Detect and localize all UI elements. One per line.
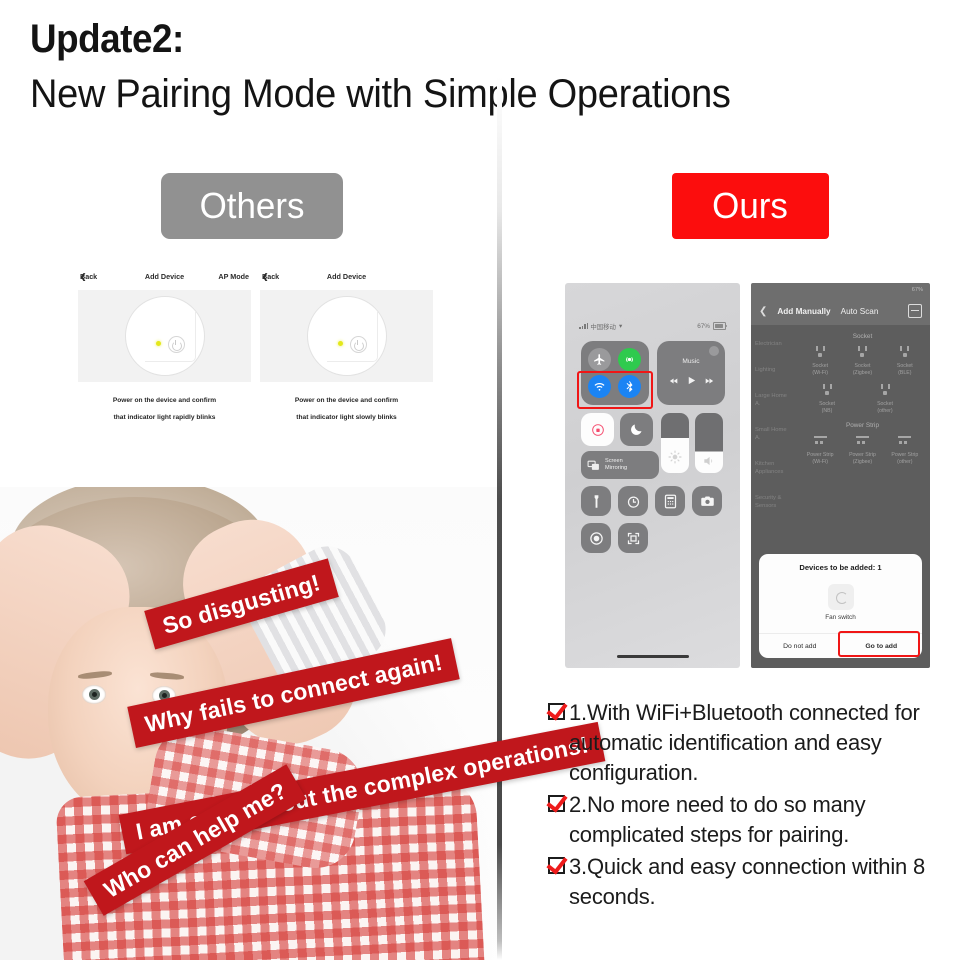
app-status-bar: 67% [751, 287, 930, 296]
panel-1-caption: Power on the device and confirm that ind… [78, 392, 251, 426]
benefit-text: 3.Quick and easy connection within 8 sec… [569, 852, 960, 912]
panel-2-header: ❮Back Add Device [260, 272, 433, 288]
smart-app-add-device-screen: 67% ❮ Add Manually Auto Scan Electrician… [751, 283, 930, 668]
checkbox-checked-icon [548, 857, 565, 874]
timer-icon[interactable] [618, 486, 648, 516]
panel-2-caption: Power on the device and confirm that ind… [260, 392, 433, 426]
rotation-lock-icon[interactable] [581, 413, 614, 446]
promo-page: Update2: New Pairing Mode with Simple Op… [0, 0, 960, 960]
ap-mode-button[interactable]: AP Mode [218, 272, 249, 281]
home-indicator [617, 655, 689, 658]
devices-found-dialog: Devices to be added: 1 Fan switch Do not… [759, 554, 922, 658]
socket-circle-icon [307, 296, 387, 376]
page-title: Update2: New Pairing Mode with Simple Op… [30, 16, 950, 120]
device-thumbnail-icon [828, 584, 854, 610]
caption-line-1: Power on the device and confirm [78, 392, 251, 409]
ios-control-center: 中国移动 ▾ 67% [565, 283, 740, 668]
badge-others: Others [161, 173, 343, 239]
caption-line-2: that indicator light rapidly blinks [78, 409, 251, 426]
airplane-mode-icon[interactable] [588, 348, 611, 371]
panel-1-title: Add Device [145, 272, 184, 281]
screen-record-icon[interactable] [581, 523, 611, 553]
list-item: 3.Quick and easy connection within 8 sec… [548, 852, 960, 912]
app-navigation-bar: ❮ Add Manually Auto Scan [751, 303, 930, 319]
device-illustration [78, 290, 251, 382]
dialog-title: Devices to be added: 1 [759, 563, 922, 572]
checkbox-checked-icon [548, 703, 565, 720]
battery-icon [713, 322, 726, 330]
badge-ours-label: Ours [713, 185, 789, 227]
brightness-icon [668, 450, 682, 464]
do-not-add-button[interactable]: Do not add [759, 634, 841, 658]
airplay-icon[interactable] [709, 346, 719, 356]
headline-line-2: New Pairing Mode with Simple Operations [30, 68, 904, 120]
fast-forward-icon[interactable] [704, 376, 714, 386]
eye-left [82, 685, 106, 704]
music-widget[interactable]: Music [657, 341, 725, 405]
app-status-right: 67% [912, 287, 923, 296]
status-bar: 中国移动 ▾ 67% [565, 321, 740, 331]
do-not-disturb-icon[interactable] [620, 413, 653, 446]
tab-auto-scan[interactable]: Auto Scan [841, 307, 879, 316]
caption-line-2: that indicator light slowly blinks [260, 409, 433, 426]
music-controls [657, 375, 725, 386]
vertical-divider [497, 0, 502, 960]
flashlight-icon[interactable] [581, 486, 611, 516]
signal-icon [579, 323, 588, 329]
indicator-led-icon [156, 341, 161, 346]
cellular-data-icon[interactable] [618, 348, 641, 371]
volume-icon [702, 454, 716, 468]
music-label: Music [657, 358, 725, 365]
play-icon[interactable] [686, 375, 697, 386]
power-icon [350, 336, 367, 353]
device-name-label: Fan switch [759, 614, 922, 621]
caption-line-1: Power on the device and confirm [260, 392, 433, 409]
panel-2-title: Add Device [327, 272, 366, 281]
badge-ours: Ours [672, 173, 829, 239]
volume-slider[interactable] [695, 413, 723, 473]
utility-buttons [581, 486, 725, 553]
headline-line-1: Update2: [30, 16, 876, 62]
socket-face [327, 311, 378, 362]
wifi-bluetooth-highlight [577, 371, 653, 409]
badge-others-label: Others [200, 185, 305, 227]
indicator-led-icon [338, 341, 343, 346]
brightness-slider[interactable] [661, 413, 689, 473]
calculator-icon[interactable] [655, 486, 685, 516]
checkbox-checked-icon [548, 795, 565, 812]
go-to-add-highlight [838, 631, 920, 657]
scan-icon[interactable] [908, 304, 922, 318]
panel-1-header: ❮Back Add Device AP Mode [78, 272, 251, 288]
benefit-text: 2.No more need to do so many complicated… [569, 790, 960, 850]
battery-percent-label: 67% [697, 323, 710, 330]
screen-mirroring-icon [587, 459, 600, 472]
benefits-list: 1.With WiFi+Bluetooth connected for auto… [548, 698, 960, 914]
benefit-text: 1.With WiFi+Bluetooth connected for auto… [569, 698, 960, 788]
carrier-label: 中国移动 [590, 322, 616, 331]
list-item: 2.No more need to do so many complicated… [548, 790, 960, 850]
power-icon [168, 336, 185, 353]
device-illustration [260, 290, 433, 382]
socket-face [145, 311, 196, 362]
camera-icon[interactable] [692, 486, 722, 516]
tab-add-manually[interactable]: Add Manually [777, 307, 830, 316]
socket-circle-icon [125, 296, 205, 376]
rewind-icon[interactable] [669, 376, 679, 386]
ours-app-screenshots: 中国移动 ▾ 67% [565, 283, 930, 668]
pupil-left [89, 689, 100, 700]
app-back-icon[interactable]: ❮ [759, 306, 767, 317]
wifi-status-icon: ▾ [619, 322, 622, 330]
screen-mirroring-button[interactable]: Screen Mirroring [581, 451, 659, 479]
screen-mirroring-label: Screen Mirroring [605, 458, 627, 472]
app-body: Electrician Lighting Large Home A. Small… [751, 325, 930, 668]
qr-scan-icon[interactable] [618, 523, 648, 553]
list-item: 1.With WiFi+Bluetooth connected for auto… [548, 698, 960, 788]
